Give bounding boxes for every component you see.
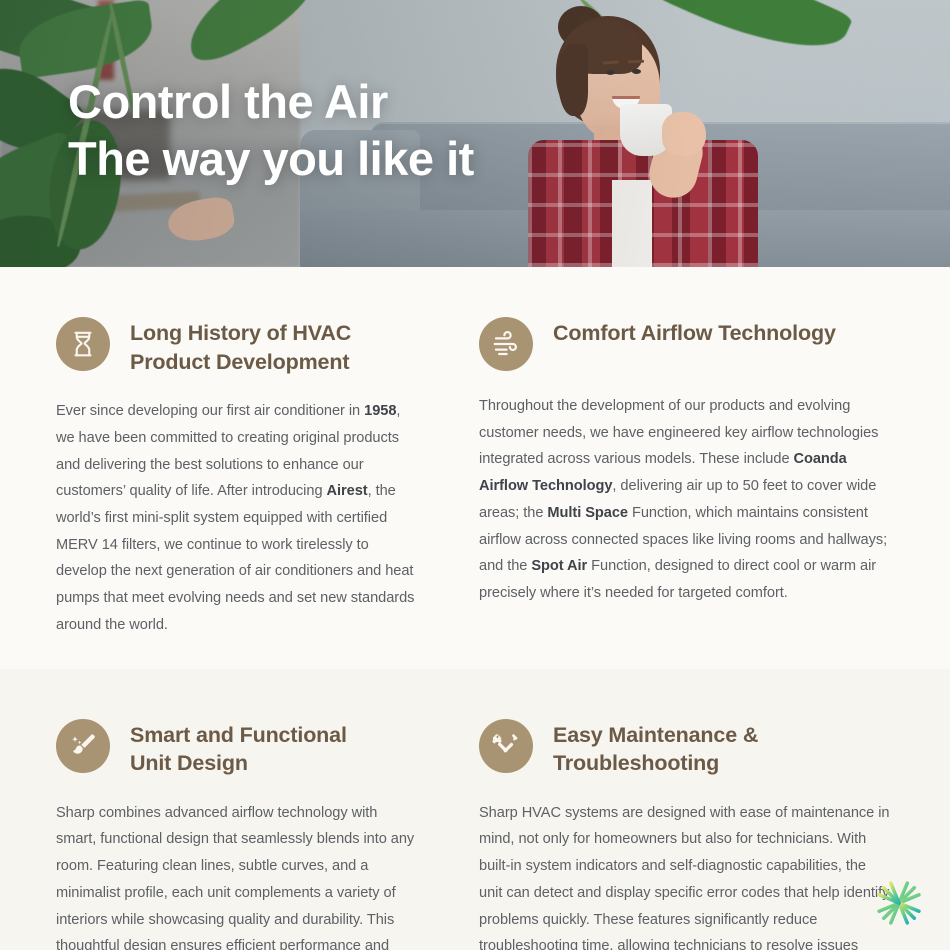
hero-title: Control the Air The way you like it (68, 74, 474, 188)
feature-body: Sharp HVAC systems are designed with eas… (479, 800, 892, 950)
feature-header: Smart and Functional Unit Design (56, 717, 419, 778)
feature-row-top: Long History of HVAC Product Development… (0, 267, 950, 669)
hourglass-icon (56, 317, 110, 371)
feature-header: Comfort Airflow Technology (479, 315, 892, 371)
feature-title: Easy Maintenance & Troubleshooting (553, 717, 758, 778)
feature-title: Long History of HVAC Product Development (130, 315, 351, 376)
hero-banner: Control the Air The way you like it (0, 0, 950, 267)
feature-card-smart-design: Smart and Functional Unit Design Sharp c… (0, 669, 475, 950)
feature-body: Sharp combines advanced airflow technolo… (56, 800, 419, 950)
feature-body: Ever since developing our first air cond… (56, 398, 419, 638)
starburst-logo (872, 876, 926, 930)
airflow-wind-icon (479, 317, 533, 371)
hammer-wrench-icon (479, 719, 533, 773)
feature-card-long-history: Long History of HVAC Product Development… (0, 267, 475, 669)
feature-header: Long History of HVAC Product Development (56, 315, 419, 376)
marketing-page: Control the Air The way you like it Long… (0, 0, 950, 950)
feature-card-comfort-airflow: Comfort Airflow Technology Throughout th… (475, 267, 950, 669)
feature-title: Smart and Functional Unit Design (130, 717, 347, 778)
feature-row-bottom: Smart and Functional Unit Design Sharp c… (0, 669, 950, 950)
paintbrush-sparkle-icon (56, 719, 110, 773)
starburst-logo-icon (872, 876, 926, 930)
feature-body: Throughout the development of our produc… (479, 393, 892, 607)
feature-title: Comfort Airflow Technology (553, 315, 836, 348)
feature-header: Easy Maintenance & Troubleshooting (479, 717, 892, 778)
feature-grid: Long History of HVAC Product Development… (0, 267, 950, 950)
